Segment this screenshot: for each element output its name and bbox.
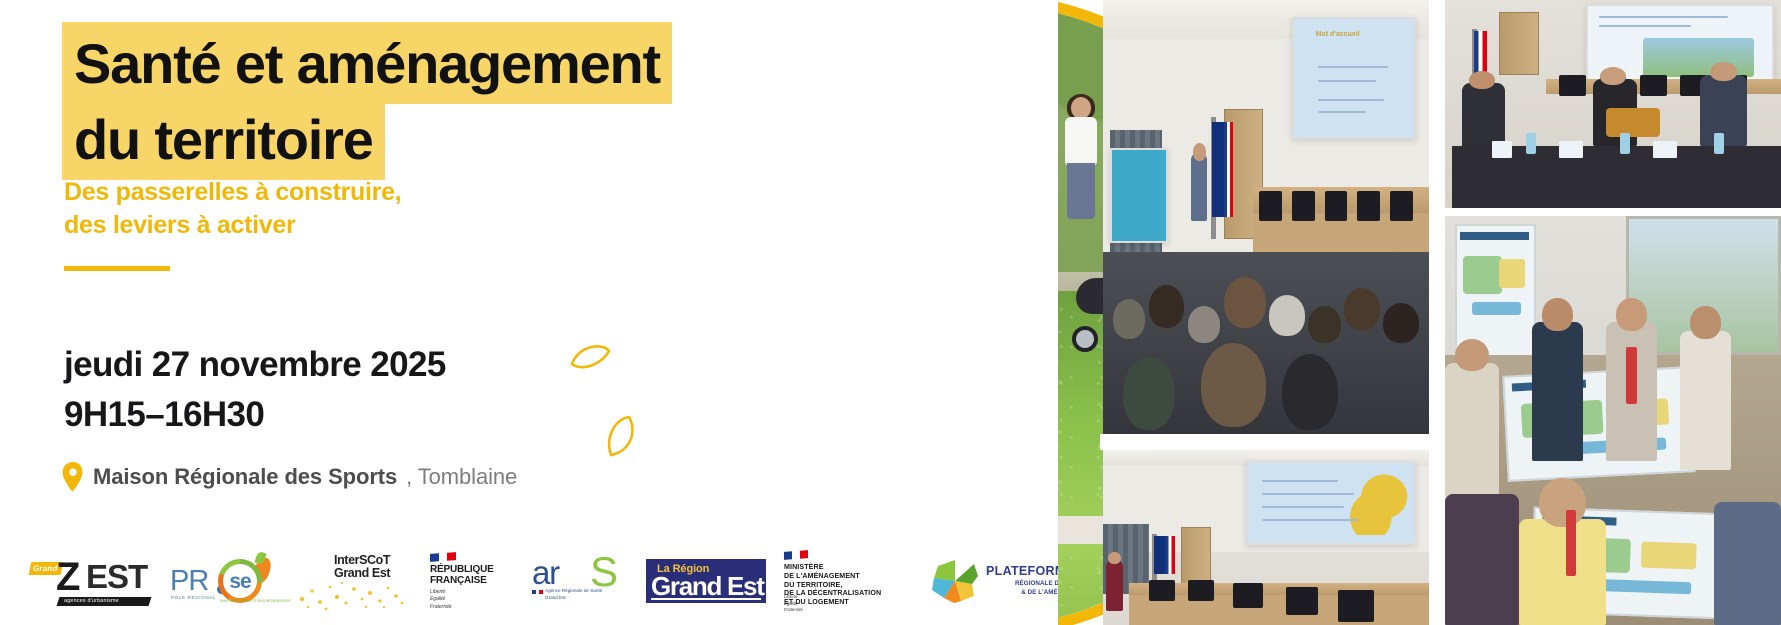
photo-workshop-maps	[1445, 216, 1781, 625]
rf-motto: Liberté Égalité Fraternité	[430, 589, 451, 611]
event-time: 9H15–16H30	[64, 390, 446, 440]
zest-z-letter: Z	[56, 557, 80, 597]
logo-plateforme: PLATEFORME RÉGIONALE DU FONCIER & DE L'A…	[930, 552, 1058, 610]
rf-motto-3: Fraternité	[430, 604, 451, 611]
plateforme-pinwheel-icon	[930, 558, 980, 604]
event-date: jeudi 27 novembre 2025	[64, 340, 446, 390]
ministere-motto-3: Fraternité	[784, 607, 803, 614]
ars-flag-icon	[532, 590, 543, 594]
prise-se-letters: se	[229, 571, 250, 592]
panelist	[1462, 83, 1506, 150]
french-flag-icon	[430, 552, 456, 562]
ars-subtext: Agence Régionale de Santé Grand Est	[545, 588, 602, 602]
lanyard	[1566, 510, 1576, 575]
subtitle-line-2: des leviers à activer	[64, 209, 401, 242]
ars-sub-2: Grand Est	[545, 595, 602, 602]
speaker	[1191, 152, 1207, 221]
participant	[1714, 502, 1781, 625]
plateforme-sub-2: & DE L'AMÉNAGEMENT	[986, 588, 1058, 597]
participant	[1680, 331, 1730, 470]
photo-conference-slide	[1103, 450, 1429, 625]
logo-ministere: MINISTÈRE DE L'AMÉNAGEMENT DU TERRITOIRE…	[784, 550, 912, 612]
ministere-line-1: MINISTÈRE	[784, 563, 881, 572]
slide-leaf-graphic	[1344, 471, 1410, 535]
prise-subtext: PÔLE RÉGIONAL	[171, 595, 216, 600]
photo-collage: Mot d'accueil	[1100, 0, 1781, 625]
location-pin-icon	[62, 462, 84, 492]
projection-screen	[1246, 461, 1416, 545]
zest-est-letters: EST	[86, 560, 147, 593]
partner-logos: Grand Z EST agences d'urbanisme PR PÔLE …	[30, 545, 1030, 617]
audience	[1103, 252, 1429, 434]
lanyard	[1626, 347, 1636, 404]
door	[1499, 12, 1539, 74]
prise-pr-letters: PR	[170, 567, 208, 596]
collage-divider	[1100, 434, 1445, 450]
participant	[1532, 322, 1582, 461]
event-title: Santé et aménagement du territoire	[62, 22, 672, 180]
ministere-motto: Liberté Égalité Fraternité	[784, 594, 803, 614]
slide-title: Mot d'accueil	[1316, 31, 1360, 38]
title-line-2: du territoire	[62, 104, 385, 180]
slide-map-graphic	[1643, 38, 1753, 78]
title-line-1: Santé et aménagement	[62, 22, 672, 104]
french-flag	[1224, 122, 1234, 217]
photo-conference-main: Mot d'accueil	[1103, 0, 1429, 434]
left-content-panel: Santé et aménagement du territoire Des p…	[0, 0, 1058, 625]
logo-region-grand-est: La Région Grand Est	[646, 559, 766, 603]
ministere-motto-2: Égalité	[784, 601, 803, 608]
logo-republique-francaise: RÉPUBLIQUE FRANÇAISE Liberté Égalité Fra…	[430, 551, 514, 611]
projection-screen: Mot d'accueil	[1292, 17, 1416, 139]
french-flag	[1165, 536, 1175, 575]
logo-interscot: InterSCoT Grand Est	[296, 551, 412, 611]
venue-name: Maison Régionale des Sports	[93, 464, 397, 490]
prise-ring-inner: se	[223, 564, 257, 598]
event-venue: Maison Régionale des Sports , Tomblaine	[62, 462, 517, 492]
region-main-label: Grand Est	[651, 573, 764, 599]
plateforme-sub-3: DURABLE	[986, 598, 1058, 607]
subtitle-line-1: Des passerelles à construire,	[64, 176, 401, 209]
leaf-doodle-icon	[568, 342, 612, 376]
event-datetime: jeudi 27 novembre 2025 9H15–16H30	[64, 340, 446, 439]
plateforme-sub-1: RÉGIONALE DU FONCIER	[986, 579, 1058, 588]
ars-letters: ar	[532, 556, 559, 589]
leaf-doodle-icon	[605, 415, 639, 459]
door	[1181, 527, 1210, 587]
plateforme-subtitle: RÉGIONALE DU FONCIER & DE L'AMÉNAGEMENT …	[986, 579, 1058, 607]
photo-panel-table	[1445, 0, 1781, 208]
speaker	[1106, 559, 1122, 612]
event-subtitle: Des passerelles à construire, des levier…	[64, 176, 401, 242]
event-banner: Santé et aménagement du territoire Des p…	[0, 0, 1781, 625]
interscot-dots-icon	[296, 569, 408, 611]
participant	[1445, 494, 1519, 625]
ars-s-letter: S	[590, 551, 618, 593]
collage-divider	[1429, 0, 1445, 625]
plateforme-title: PLATEFORME	[986, 564, 1058, 578]
rf-line-2: FRANÇAISE	[430, 576, 494, 587]
rf-title: RÉPUBLIQUE FRANÇAISE	[430, 565, 494, 587]
participant	[1519, 519, 1606, 625]
zest-tagline: agences d'urbanisme	[64, 598, 119, 604]
logo-prise: PR PÔLE RÉGIONAL se INNOVATION SANTÉ ENV…	[170, 555, 278, 607]
panelist	[1700, 75, 1747, 146]
rf-motto-2: Égalité	[430, 596, 451, 603]
logo-zest: Grand Z EST agences d'urbanisme	[30, 556, 152, 606]
accent-rule	[64, 266, 170, 271]
region-underline	[651, 598, 761, 600]
ministere-line-2: DE L'AMÉNAGEMENT	[784, 572, 881, 581]
venue-city: , Tomblaine	[406, 464, 517, 490]
prise-subtext-2: INNOVATION SANTÉ ENVIRONNEMENT	[220, 599, 291, 603]
french-flag-icon	[784, 550, 808, 560]
ars-sub-1: Agence Régionale de Santé	[545, 588, 602, 595]
ministere-motto-1: Liberté	[784, 594, 803, 601]
collage-divider	[1445, 208, 1781, 216]
side-screen	[1110, 148, 1169, 243]
logo-ars: ar S Agence Régionale de Santé Grand Est	[532, 553, 628, 609]
